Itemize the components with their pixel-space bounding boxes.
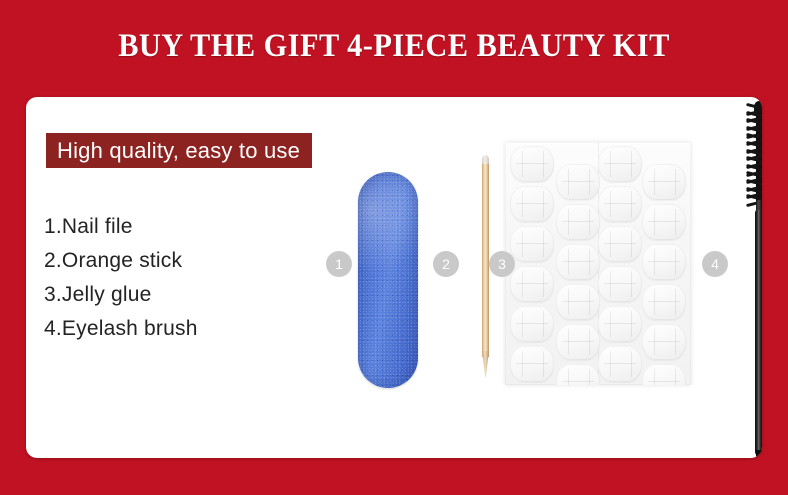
glue-tab [598, 226, 642, 262]
orange-stick-icon [482, 157, 489, 377]
list-item: 4.Eyelash brush [44, 312, 334, 346]
glue-tab [510, 266, 554, 302]
eyelash-brush-handle-end [756, 450, 763, 458]
glue-tab [642, 204, 686, 240]
glue-tab [642, 164, 686, 200]
feature-list: 1.Nail file 2.Orange stick 3.Jelly glue … [44, 210, 334, 346]
glue-tab [510, 346, 554, 382]
jelly-glue-icon [505, 142, 691, 385]
orange-stick-bevel-tip [482, 155, 489, 164]
glue-tab [510, 146, 554, 182]
glue-tab [598, 266, 642, 302]
glue-tab-column [598, 142, 644, 385]
glue-tab [642, 364, 686, 385]
glue-tab [598, 186, 642, 222]
glue-tab [556, 364, 600, 385]
page-title: BUY THE GIFT 4-PIECE BEAUTY KIT [32, 28, 757, 65]
glue-tab [642, 324, 686, 360]
eyelash-brush-icon [737, 102, 762, 458]
glue-tab [642, 244, 686, 280]
glue-tab [510, 226, 554, 262]
glue-tab-column [556, 142, 602, 385]
glue-tab [556, 284, 600, 320]
glue-tab [598, 306, 642, 342]
eyelash-brush-handle [755, 210, 762, 456]
glue-tab [510, 186, 554, 222]
list-item: 1.Nail file [44, 210, 334, 244]
eyelash-brush-head [745, 104, 762, 204]
glue-tab [510, 306, 554, 342]
quality-banner: High quality, easy to use [46, 133, 312, 168]
status-badge: 4 [702, 251, 728, 277]
glue-tab [642, 284, 686, 320]
nail-file-grain-texture [358, 172, 418, 388]
product-banner: BUY THE GIFT 4-PIECE BEAUTY KIT High qua… [0, 0, 788, 495]
list-item: 2.Orange stick [44, 244, 334, 278]
glue-tab-column [510, 142, 556, 385]
glue-tab [556, 164, 600, 200]
glue-tab [556, 324, 600, 360]
status-badge: 3 [489, 251, 515, 277]
product-card: High quality, easy to use 1.Nail file 2.… [26, 97, 762, 458]
quality-banner-label: High quality, easy to use [57, 140, 300, 162]
list-item: 3.Jelly glue [44, 278, 334, 312]
glue-tab [556, 204, 600, 240]
nail-file-icon [358, 172, 418, 388]
glue-tab [598, 146, 642, 182]
status-badge: 1 [326, 251, 352, 277]
orange-stick-point-tip [482, 351, 489, 377]
status-badge: 2 [433, 251, 459, 277]
orange-stick-body [482, 157, 489, 357]
glue-tab [556, 244, 600, 280]
glue-tab-column [642, 142, 688, 385]
glue-tab [598, 346, 642, 382]
